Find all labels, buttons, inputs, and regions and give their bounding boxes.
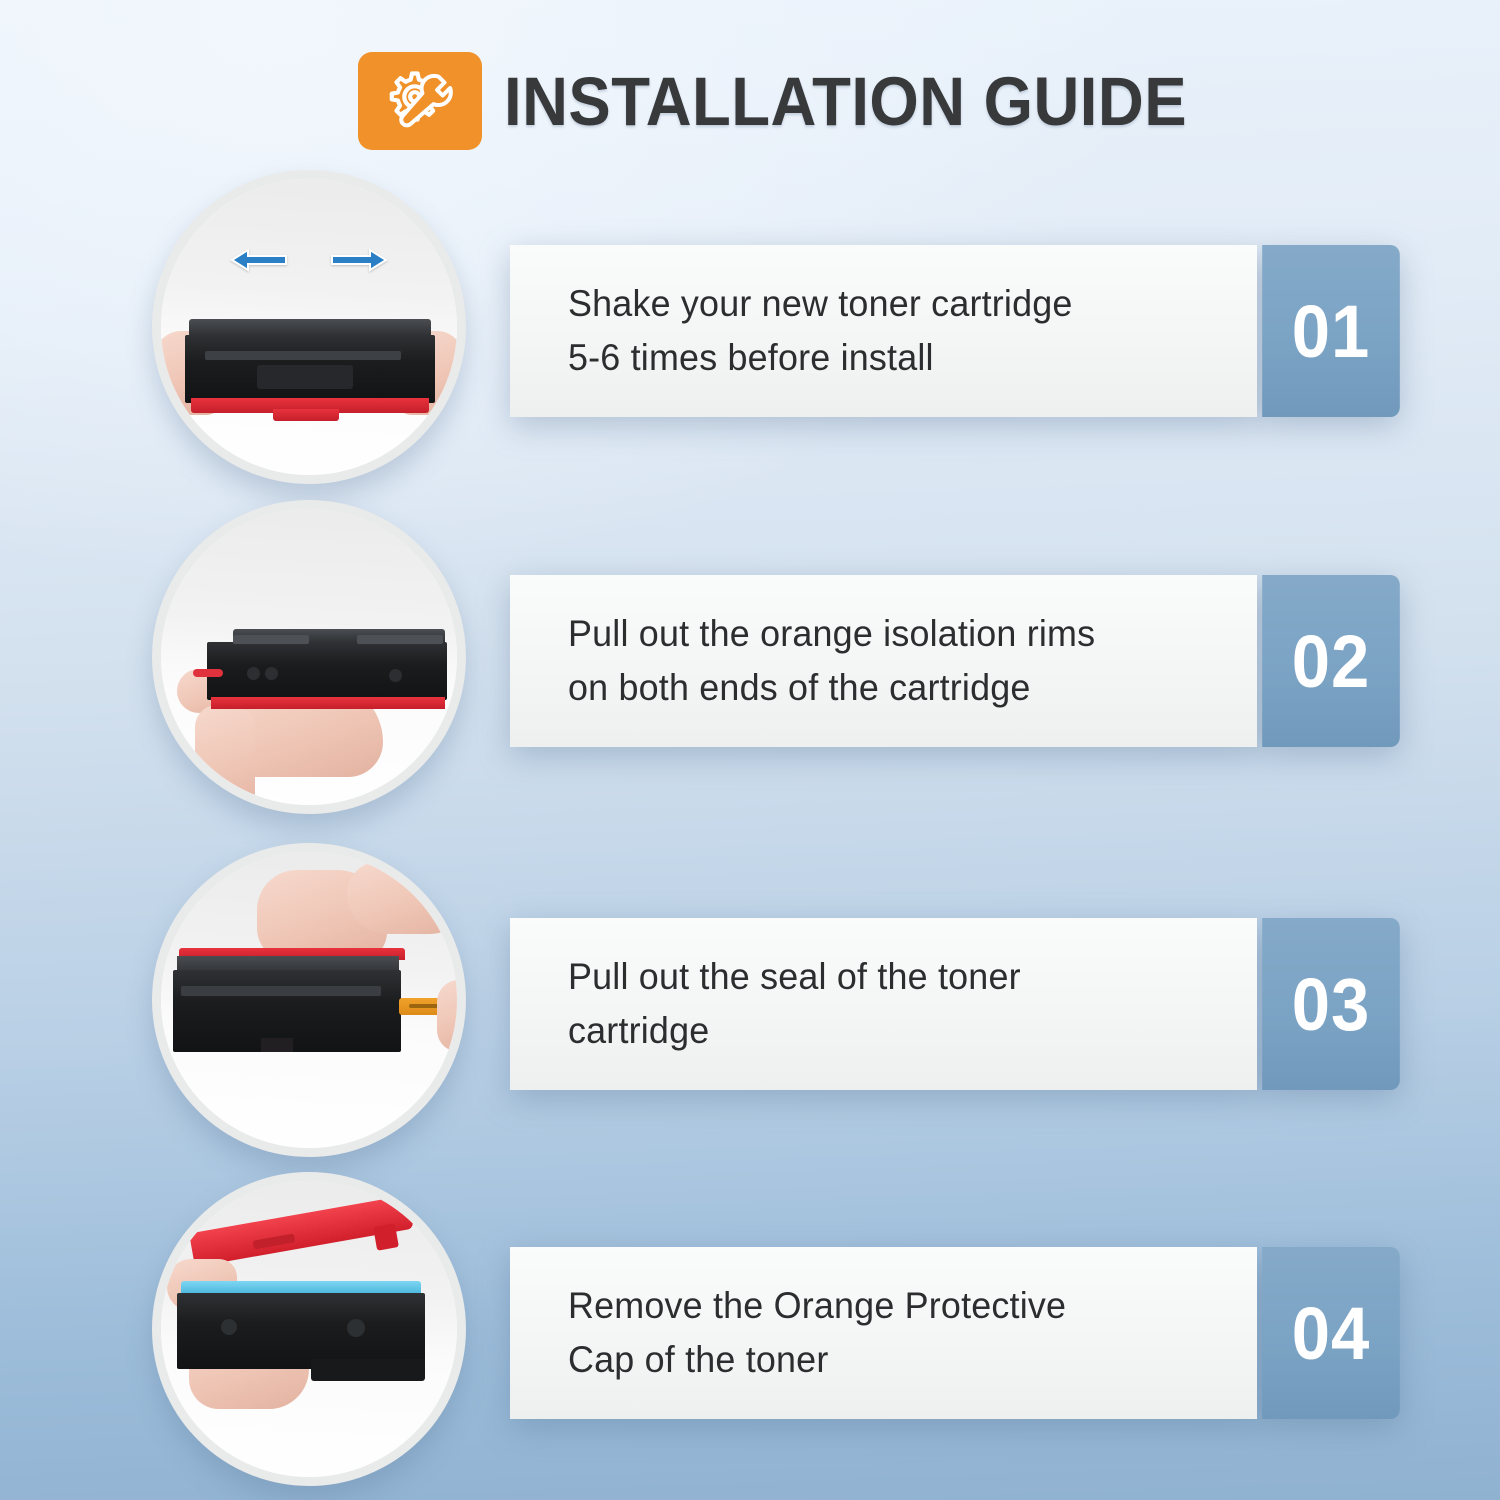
circle-frame [152,1172,466,1486]
shake-arrows [161,247,457,273]
step-text: Shake your new toner cartridge 5-6 times… [568,277,1073,384]
step-number-badge: 02 [1262,575,1400,747]
step-number-badge: 03 [1262,918,1400,1090]
cartridge-photo-isolation-rim [161,509,457,805]
cartridge-photo-seal [161,852,457,1148]
page-header: INSTALLATION GUIDE [358,52,1246,150]
step-card: Pull out the seal of the toner cartridge… [510,918,1405,1090]
circle-frame [152,170,466,484]
step-text: Pull out the seal of the toner cartridge [568,950,1021,1057]
arrow-right-icon [330,247,388,273]
step-card-body: Pull out the seal of the toner cartridge [510,918,1257,1090]
step-number-badge: 04 [1262,1247,1400,1419]
step-number-badge: 01 [1262,245,1400,417]
step-image-3 [152,843,466,1157]
step-card: Pull out the orange isolation rims on bo… [510,575,1405,747]
step-image-1 [152,170,466,484]
cartridge-photo-protective-cap [161,1181,457,1477]
arrow-left-icon [230,247,288,273]
step-card-body: Shake your new toner cartridge 5-6 times… [510,245,1257,417]
step-card: Shake your new toner cartridge 5-6 times… [510,245,1405,417]
step-card-body: Remove the Orange Protective Cap of the … [510,1247,1257,1419]
step-card: Remove the Orange Protective Cap of the … [510,1247,1405,1419]
step-image-4 [152,1172,466,1486]
step-card-body: Pull out the orange isolation rims on bo… [510,575,1257,747]
step-text: Pull out the orange isolation rims on bo… [568,607,1095,714]
step-image-2 [152,500,466,814]
circle-frame [152,843,466,1157]
step-text: Remove the Orange Protective Cap of the … [568,1279,1066,1386]
page-title: INSTALLATION GUIDE [504,62,1187,141]
cartridge-photo-shake [161,179,457,475]
circle-frame [152,500,466,814]
gear-wrench-icon [358,52,482,150]
